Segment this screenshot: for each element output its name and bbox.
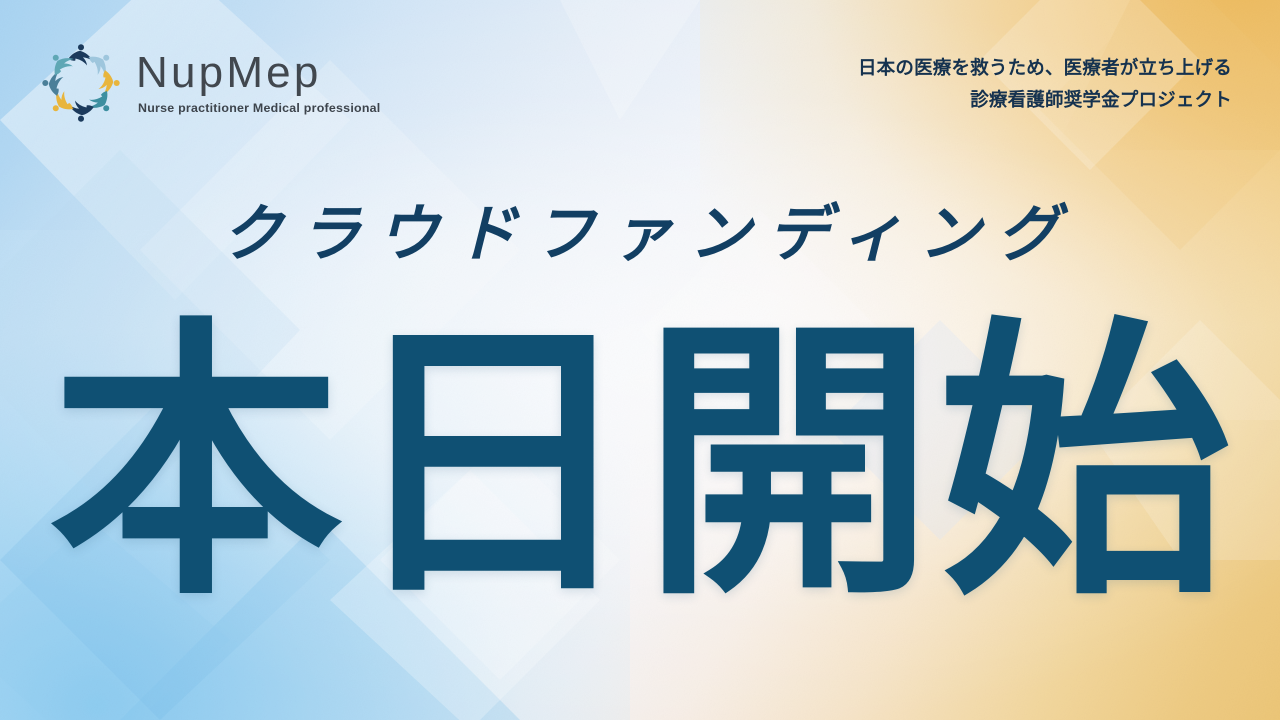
hero-headline: 本日開始 (0, 318, 1280, 610)
brand-wordmark-group: NupMep Nurse practitioner Medical profes… (136, 51, 380, 115)
nupmep-circle-figures-logo-icon (40, 42, 122, 124)
brand-tagline-en: Nurse practitioner Medical professional (138, 101, 380, 115)
project-tagline-line-2: 診療看護師奨学金プロジェクト (858, 84, 1232, 116)
brand-name: NupMep (136, 51, 380, 96)
project-tagline-line-1: 日本の医療を救うため、医療者が立ち上げる (858, 52, 1232, 84)
brand-logo[interactable]: NupMep Nurse practitioner Medical profes… (40, 42, 380, 124)
project-tagline: 日本の医療を救うため、医療者が立ち上げる 診療看護師奨学金プロジェクト (858, 52, 1232, 116)
hero-kicker: クラウドファンディング (0, 204, 1280, 266)
poster-canvas: NupMep Nurse practitioner Medical profes… (0, 0, 1280, 720)
